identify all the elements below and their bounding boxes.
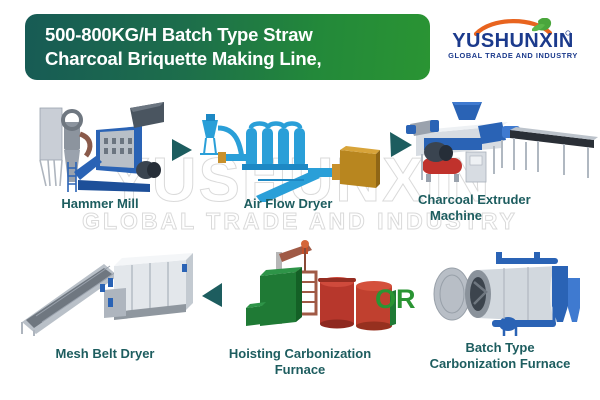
infographic-page: YUSHUNXIN GLOBAL TRADE AND INDUSTRY 500-… xyxy=(0,0,600,400)
company-logo: YUSHUNXIN GLOBAL TRADE AND INDUSTRY xyxy=(438,18,588,64)
page-title-line-2: Charcoal Briquette Making Line, xyxy=(45,47,414,71)
label-hoisting-furnace-line1: Hoisting Carbonization xyxy=(200,346,400,362)
label-mesh-belt-dryer: Mesh Belt Dryer xyxy=(20,346,190,362)
label-air-flow-dryer: Air Flow Dryer xyxy=(218,196,358,212)
mesh-belt-dryer-image xyxy=(18,244,193,336)
flow-arrow-2 xyxy=(386,128,416,160)
label-batch-furnace-line2: Carbonization Furnace xyxy=(400,356,600,372)
label-hoisting-furnace-line2: Furnace xyxy=(200,362,400,378)
batch-carbonization-furnace-image xyxy=(430,248,590,340)
charcoal-extruder-image xyxy=(406,96,598,196)
title-banner: 500-800KG/H Batch Type Straw Charcoal Br… xyxy=(25,14,430,80)
or-label: OR xyxy=(375,284,416,315)
label-hammer-mill: Hammer Mill xyxy=(30,196,170,212)
label-charcoal-extruder-line1: Charcoal Extruder xyxy=(418,192,600,208)
svg-text:YUSHUNXIN: YUSHUNXIN xyxy=(452,30,573,52)
flow-arrow-3 xyxy=(198,280,226,310)
label-batch-furnace-line1: Batch Type xyxy=(400,340,600,356)
flow-row-bottom: Mesh Belt Dryer xyxy=(0,238,600,400)
page-title-line-1: 500-800KG/H Batch Type Straw xyxy=(45,23,414,47)
hammer-mill-image xyxy=(34,100,174,198)
flow-row-top: Hammer Mill xyxy=(0,96,600,226)
flow-arrow-1 xyxy=(168,136,196,164)
air-flow-dryer-image xyxy=(196,110,381,202)
label-charcoal-extruder-line2: Machine xyxy=(430,208,600,224)
header: 500-800KG/H Batch Type Straw Charcoal Br… xyxy=(0,0,600,94)
hoisting-carbonization-furnace-image xyxy=(246,238,396,338)
svg-text:GLOBAL TRADE AND INDUSTRY: GLOBAL TRADE AND INDUSTRY xyxy=(448,51,578,60)
